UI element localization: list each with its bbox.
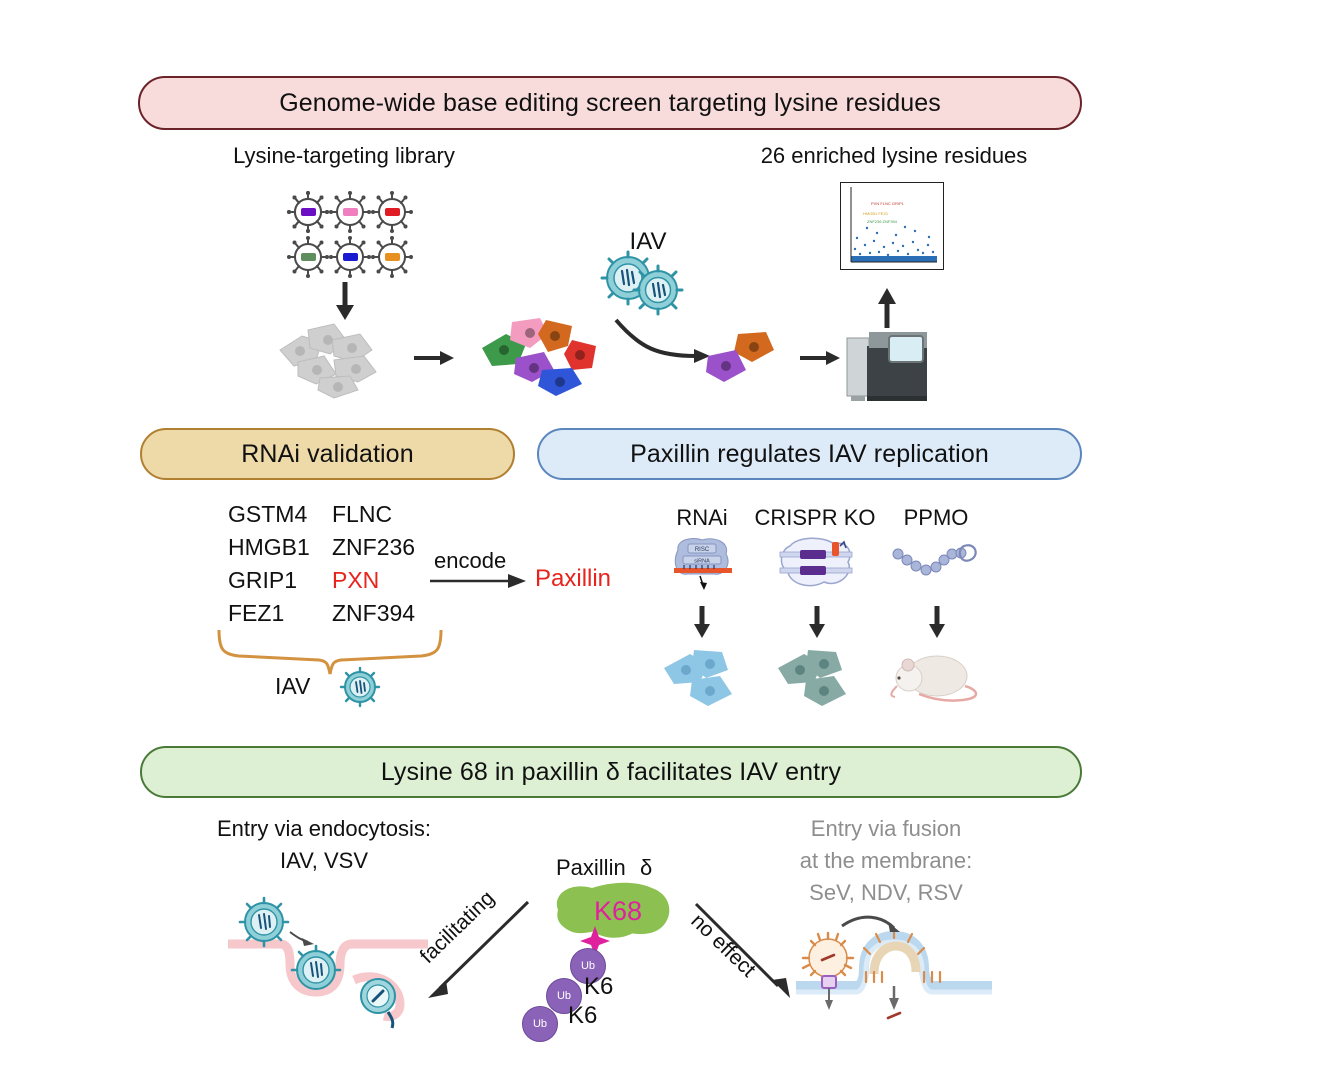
label-approach-crispr-ko: CRISPR KO [754, 505, 875, 531]
membrane-fusion-diagram-icon [796, 912, 992, 1024]
label-enriched-lysine-residues: 26 enriched lysine residues [761, 143, 1028, 169]
gene-name-left: FEZ1 [228, 600, 332, 627]
unedited-cells-icon [272, 316, 402, 400]
arrow-right-2-icon [800, 348, 842, 368]
sequencer-machine-icon [845, 330, 929, 404]
banner-paxillin-replication-label: Paxillin regulates IAV replication [630, 440, 989, 469]
label-lysine-targeting-library: Lysine-targeting library [233, 143, 455, 169]
label-approach-rnai: RNAi [676, 505, 727, 531]
label-k6-linkage-1: K6 [584, 973, 613, 1001]
gene-name-right: FLNC [332, 501, 462, 528]
label-entry-endocytosis-1: Entry via endocytosis: [217, 816, 431, 842]
label-bracket-iav: IAV [275, 673, 310, 700]
cas9-nuclease-icon [776, 536, 856, 590]
label-approach-ppmo: PPMO [904, 505, 969, 531]
mouse-icon [885, 648, 985, 706]
gene-row: HMGB1 ZNF236 [228, 531, 462, 564]
scatter-plot-points-icon: PXN FLNC GRIP1 HMGB1 FEZ1 ZNF236 ZNF394 [841, 183, 943, 269]
label-entry-fusion-2: at the membrane: [800, 848, 972, 874]
gene-name-left: HMGB1 [228, 534, 332, 561]
label-k68-residue: K68 [594, 896, 642, 927]
arrow-crispr-down-icon [805, 606, 829, 640]
svg-text:PXN FLNC GRIP1: PXN FLNC GRIP1 [871, 201, 905, 206]
banner-rnai-validation-label: RNAi validation [241, 440, 413, 469]
blue-cells-icon [658, 646, 750, 708]
ppmo-oligomer-icon [890, 540, 980, 588]
library-particle-grid-icon [288, 192, 408, 278]
arrow-sequencing-up-icon [872, 288, 902, 328]
banner-lysine68-label: Lysine 68 in paxillin δ facilitates IAV … [381, 758, 841, 787]
svg-text:HMGB1 FEZ1: HMGB1 FEZ1 [863, 211, 889, 216]
validated-gene-list: GSTM4 FLNC HMGB1 ZNF236 GRIP1 PXN FEZ1 Z… [228, 498, 462, 630]
risc-label: RISC [695, 547, 710, 553]
banner-rnai-validation: RNAi validation [140, 428, 515, 480]
arrow-encode-icon [430, 572, 530, 590]
ubiquitin-label: Ub [533, 1018, 547, 1030]
label-k6-linkage-2: K6 [568, 1002, 597, 1030]
ubiquitin-3: Ub [522, 1006, 558, 1042]
enrichment-scatter-plot: PXN FLNC GRIP1 HMGB1 FEZ1 ZNF236 ZNF394 [840, 182, 944, 270]
label-encode: encode [434, 548, 506, 574]
risc-sirna-icon: RISC siRNA [670, 536, 736, 592]
banner-genome-wide-screen: Genome-wide base editing screen targetin… [138, 76, 1082, 130]
gene-name-left: GSTM4 [228, 501, 332, 528]
label-entry-endocytosis-2: IAV, VSV [280, 848, 368, 874]
arrow-right-1-icon [414, 348, 456, 368]
iav-virion-small-icon [336, 666, 384, 708]
gene-row: GSTM4 FLNC [228, 498, 462, 531]
lysine-library-particles [288, 192, 408, 283]
gene-row: FEZ1 ZNF394 [228, 597, 462, 630]
gene-name-right: ZNF394 [332, 600, 462, 627]
sirna-label: siRNA [694, 559, 710, 565]
banner-paxillin-replication: Paxillin regulates IAV replication [537, 428, 1082, 480]
label-entry-fusion-1: Entry via fusion [811, 816, 961, 842]
arrow-ppmo-down-icon [925, 606, 949, 640]
endocytosis-diagram-icon [228, 888, 428, 1018]
gene-name-left: GRIP1 [228, 567, 332, 594]
label-paxillin-product: Paxillin [535, 565, 611, 593]
gene-group-bracket-icon [215, 630, 445, 676]
teal-cells-icon [772, 646, 864, 708]
iav-virion-pair-icon [600, 252, 690, 314]
gene-row: GRIP1 PXN [228, 564, 462, 597]
svg-text:ZNF236 ZNF394: ZNF236 ZNF394 [867, 219, 898, 224]
banner-genome-wide-screen-label: Genome-wide base editing screen targetin… [279, 89, 941, 118]
infected-cells-icon [704, 330, 788, 392]
label-paxillin-protein: Paxillin [556, 855, 626, 881]
edited-cells-icon [476, 312, 606, 400]
ubiquitin-label: Ub [581, 960, 595, 972]
label-paxillin-isoform-delta: δ [640, 855, 652, 881]
banner-lysine68: Lysine 68 in paxillin δ facilitates IAV … [140, 746, 1082, 798]
arrow-rnai-down-icon [690, 606, 714, 640]
ubiquitin-label: Ub [557, 990, 571, 1002]
label-entry-fusion-3: SeV, NDV, RSV [809, 880, 963, 906]
